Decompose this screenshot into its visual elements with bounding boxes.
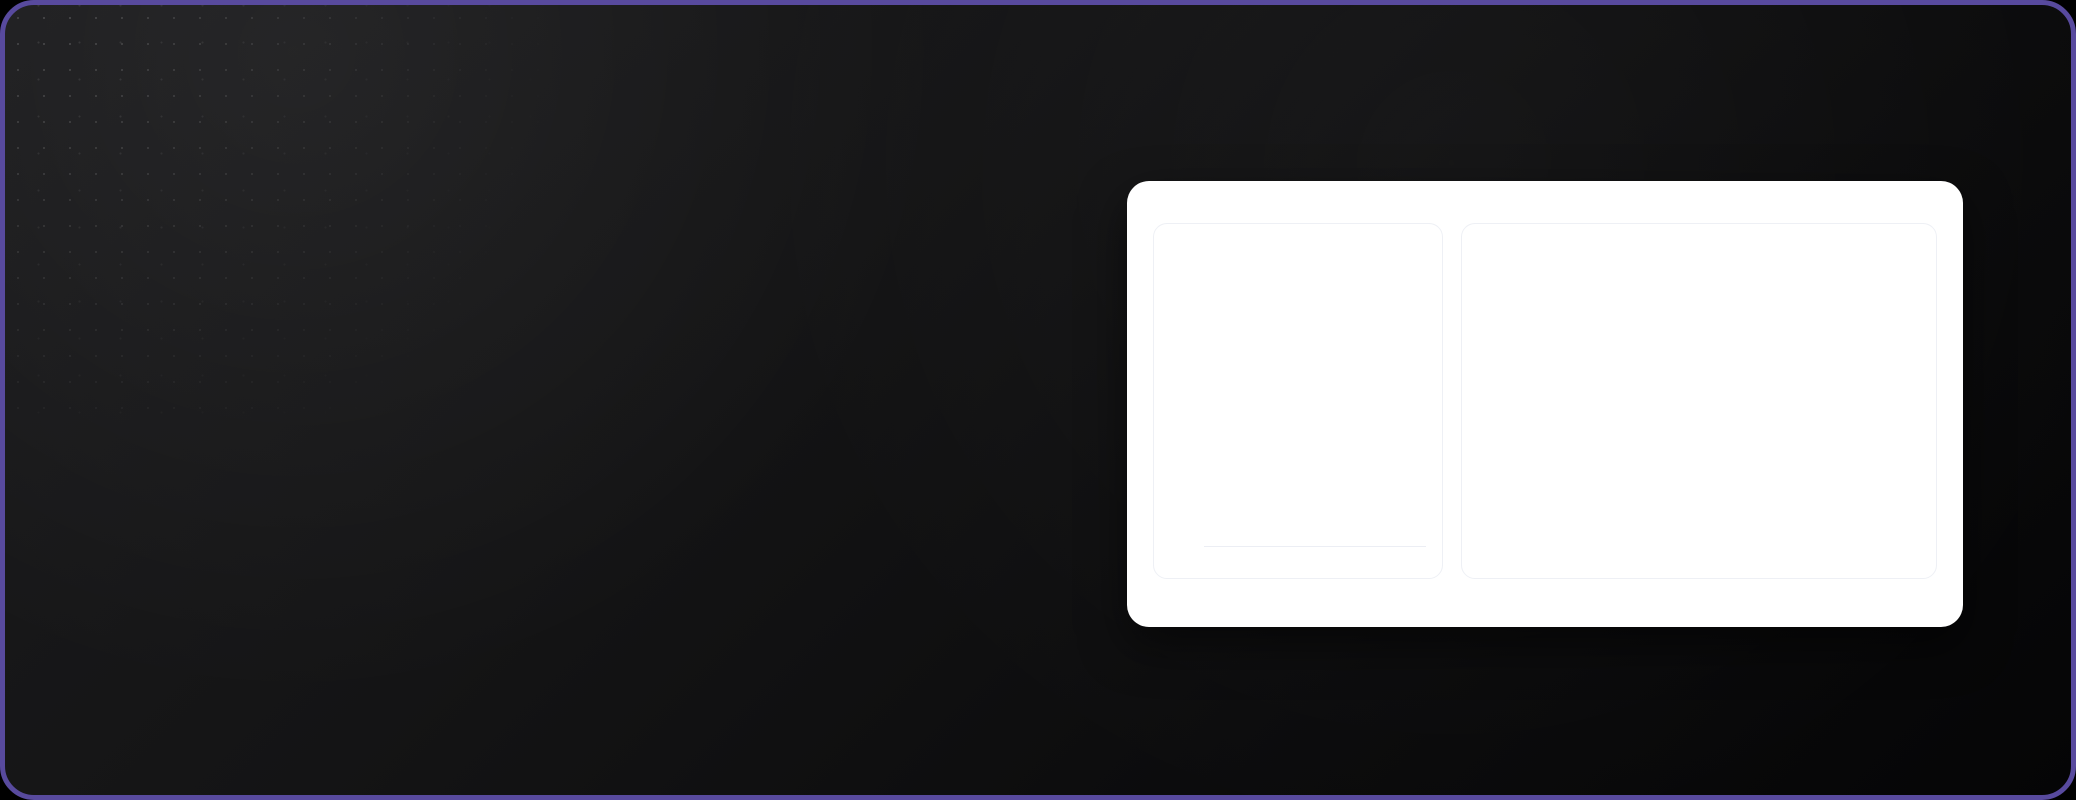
distribution-chart-panel — [1153, 223, 1443, 579]
text-column — [123, 133, 1003, 177]
subject-score-table-panel — [1461, 223, 1937, 579]
chart-area — [1170, 248, 1426, 547]
card-body — [1153, 223, 1937, 579]
detail-score-card — [1127, 181, 1963, 627]
y-axis — [1170, 248, 1204, 547]
bar-group — [1204, 248, 1426, 546]
slide-panel — [0, 0, 2076, 800]
plot-area — [1204, 248, 1426, 547]
dot-texture-decoration — [5, 5, 785, 425]
